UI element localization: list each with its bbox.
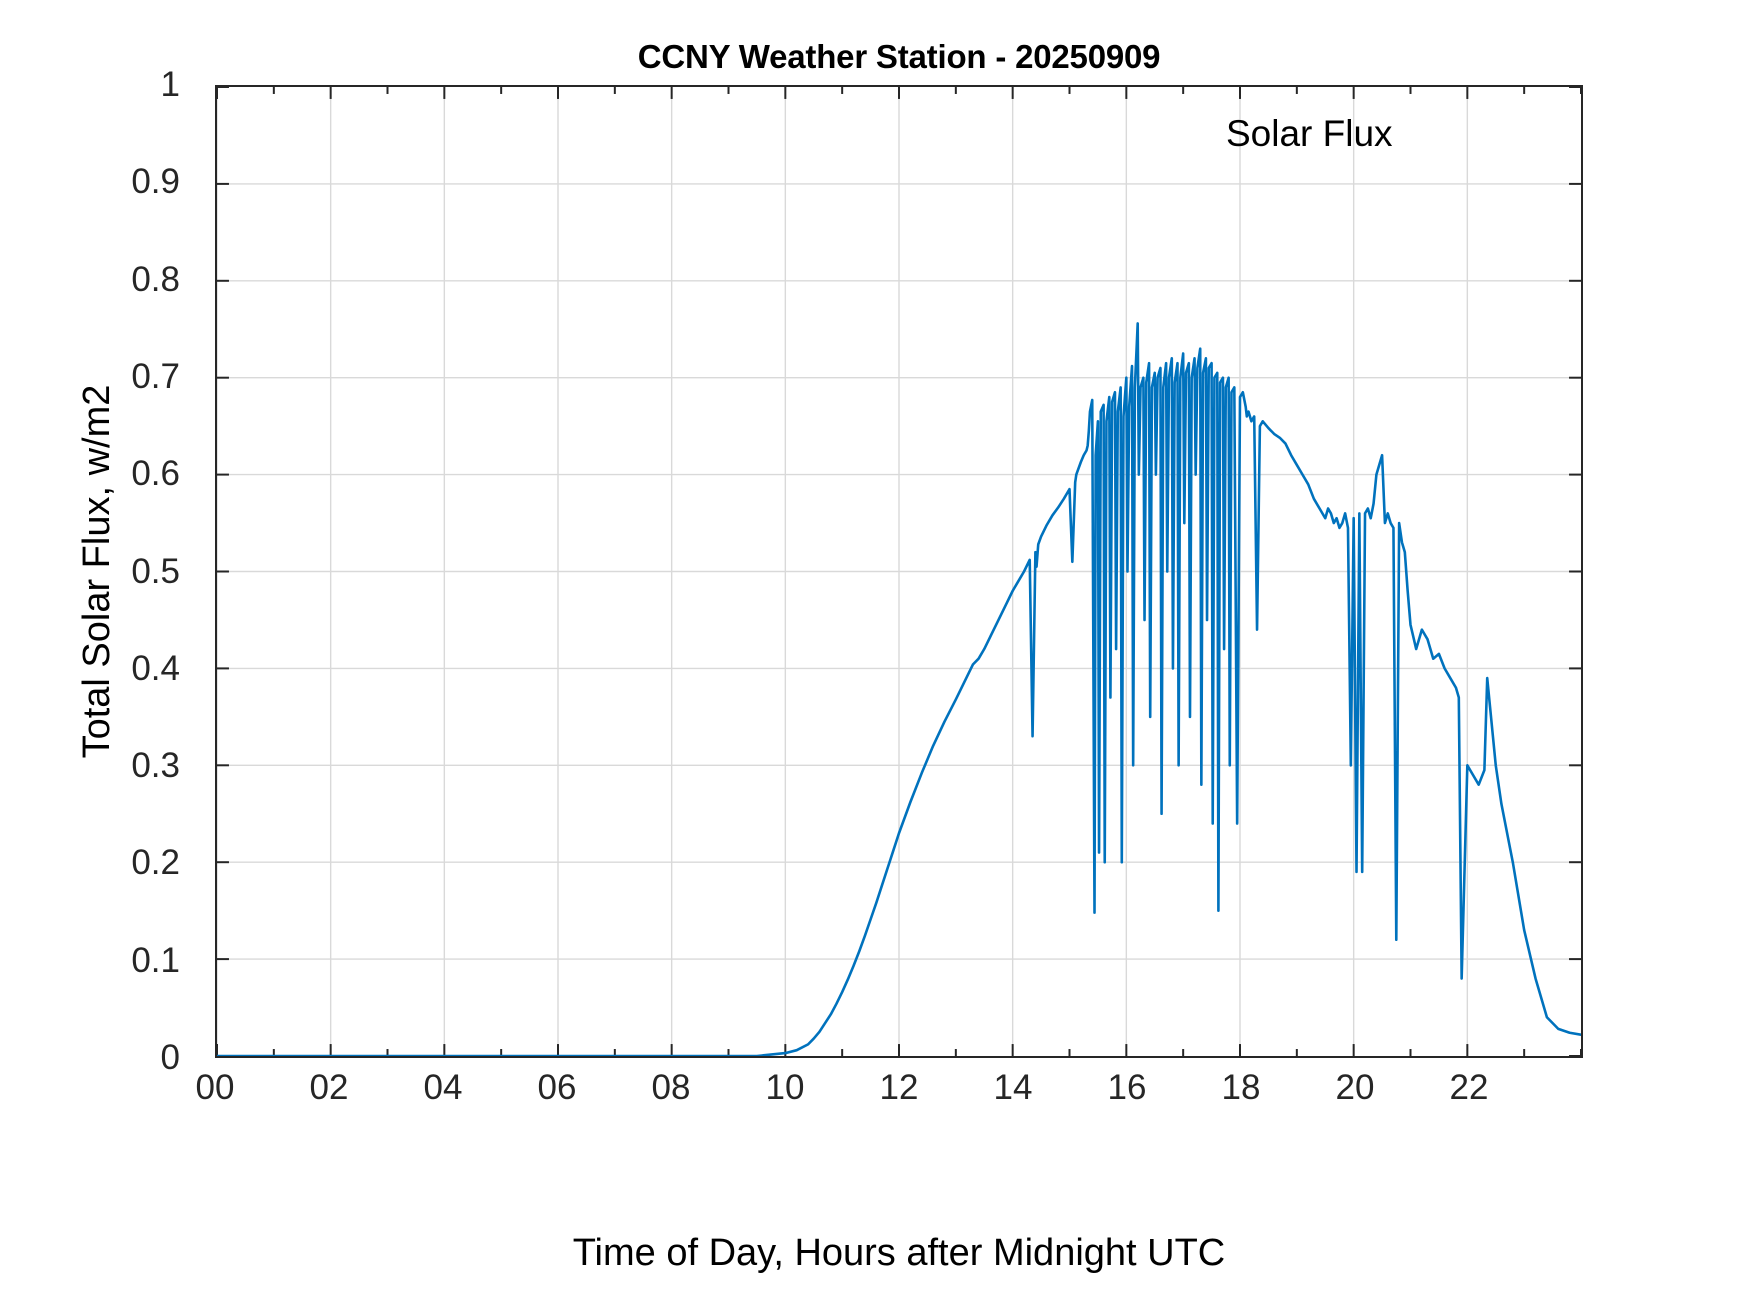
x-tick-label: 06 (538, 1068, 577, 1108)
y-tick-label: 0.1 (131, 941, 180, 981)
x-tick-label: 08 (652, 1068, 691, 1108)
y-tick-label: 0.4 (131, 649, 180, 689)
y-tick-label: 1 (161, 65, 180, 105)
y-tick-label: 0.8 (131, 260, 180, 300)
y-tick-label: 0.9 (131, 162, 180, 202)
y-tick-label: 0.7 (131, 357, 180, 397)
figure-canvas: CCNY Weather Station - 20250909 00.10.20… (0, 0, 1750, 1313)
legend-item-label: Solar Flux (1226, 113, 1393, 155)
y-tick-label: 0.2 (131, 843, 180, 883)
x-tick-label: 04 (424, 1068, 463, 1108)
data-series-solar-flux (217, 87, 1581, 1056)
x-axis-label: Time of Day, Hours after Midnight UTC (215, 1232, 1583, 1275)
x-tick-label: 02 (310, 1068, 349, 1108)
x-tick-label: 10 (766, 1068, 805, 1108)
legend-line-swatch (1094, 132, 1212, 136)
y-tick-label: 0 (161, 1038, 180, 1078)
y-tick-label: 0.6 (131, 454, 180, 494)
x-tick-label: 12 (880, 1068, 919, 1108)
x-tick-label: 18 (1222, 1068, 1261, 1108)
y-tick-label: 0.3 (131, 746, 180, 786)
plot-area (215, 85, 1583, 1058)
x-tick-label: 16 (1108, 1068, 1147, 1108)
page-title: CCNY Weather Station - 20250909 (215, 38, 1583, 76)
x-tick-label: 14 (994, 1068, 1033, 1108)
y-tick-label: 0.5 (131, 552, 180, 592)
x-tick-label: 20 (1336, 1068, 1375, 1108)
x-tick-label: 22 (1450, 1068, 1489, 1108)
x-tick-label: 00 (196, 1068, 235, 1108)
y-axis-label: Total Solar Flux, w/m2 (76, 85, 119, 1058)
legend: Solar Flux (1094, 113, 1393, 155)
